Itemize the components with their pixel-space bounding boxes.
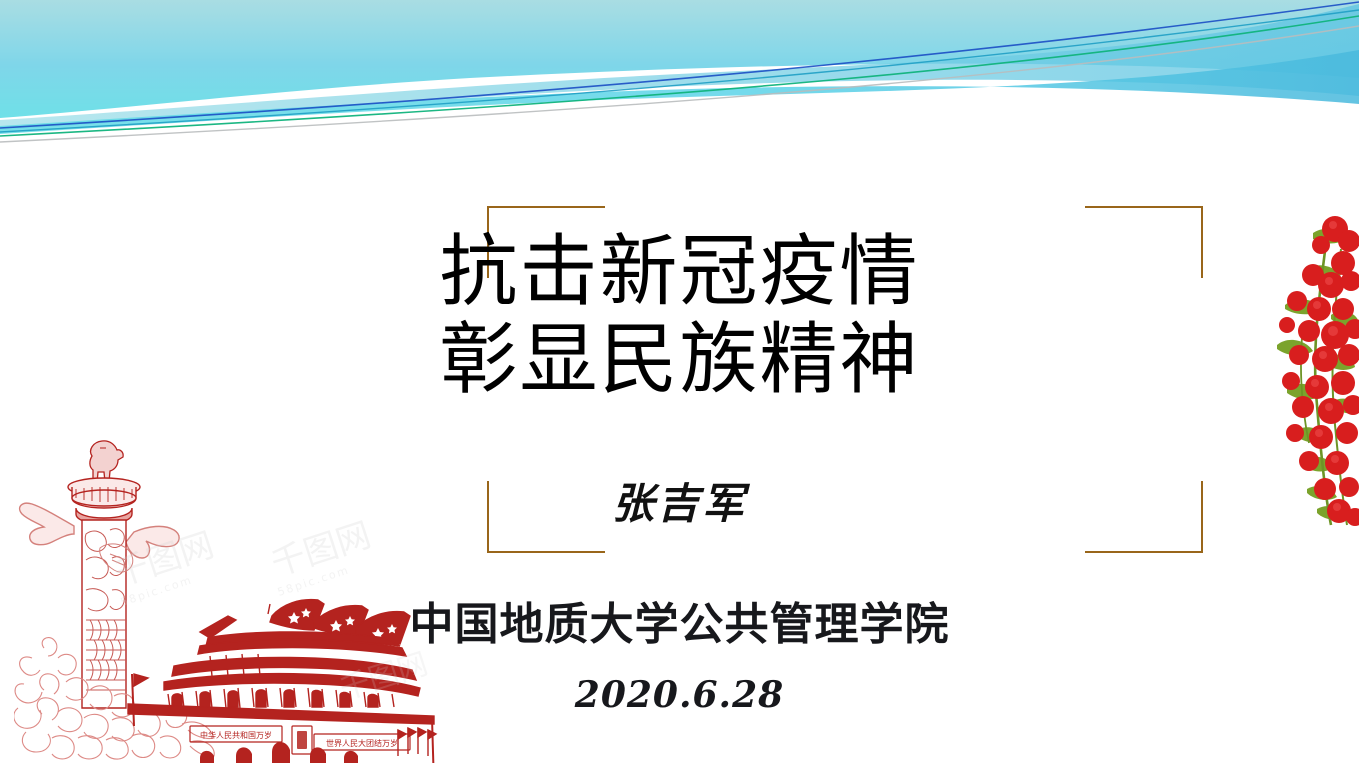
top-wave-banner	[0, 0, 1359, 150]
svg-text:千图网: 千图网	[109, 525, 218, 595]
svg-text:中华人民共和国万岁: 中华人民共和国万岁	[200, 730, 272, 740]
tiananmen-plaques	[190, 726, 410, 754]
plaque-left-text: 中华人民共和国万岁	[200, 730, 272, 740]
tiananmen-right-wall	[432, 718, 434, 763]
plaque-portrait	[297, 731, 307, 749]
title-line-1: 抗击新冠疫情	[0, 228, 1359, 316]
wave-line-green	[0, 16, 1359, 136]
wave-line-teal	[0, 10, 1359, 132]
title-slide: 抗击新冠疫情 彰显民族精神 张吉军 中国地质大学公共管理学院 2020.6.28	[0, 0, 1359, 763]
plaque-right-text: 世界人民大团结万岁	[326, 738, 398, 748]
wave-shape-band-b	[0, 4, 1359, 130]
slide-title: 抗击新冠疫情 彰显民族精神	[0, 228, 1359, 404]
wave-shape-band-c	[0, 50, 1359, 134]
wave-line-gray	[0, 26, 1359, 142]
svg-text:世界人民大团结万岁: 世界人民大团结万岁	[326, 738, 398, 748]
author-name: 张吉军	[0, 478, 1359, 530]
affiliation-text: 中国地质大学公共管理学院	[0, 597, 1359, 653]
wave-shape-main	[0, 0, 1359, 118]
svg-text:58pic.com: 58pic.com	[276, 563, 351, 599]
huabiao-dragon-motif	[100, 544, 133, 572]
wave-line-blue	[0, 2, 1359, 128]
title-line-2: 彰显民族精神	[0, 316, 1359, 404]
huabiao-beast	[90, 441, 123, 483]
presentation-date: 2020.6.28	[0, 673, 1359, 717]
tiananmen-base-doors	[200, 742, 358, 763]
small-flags-right	[398, 728, 436, 756]
